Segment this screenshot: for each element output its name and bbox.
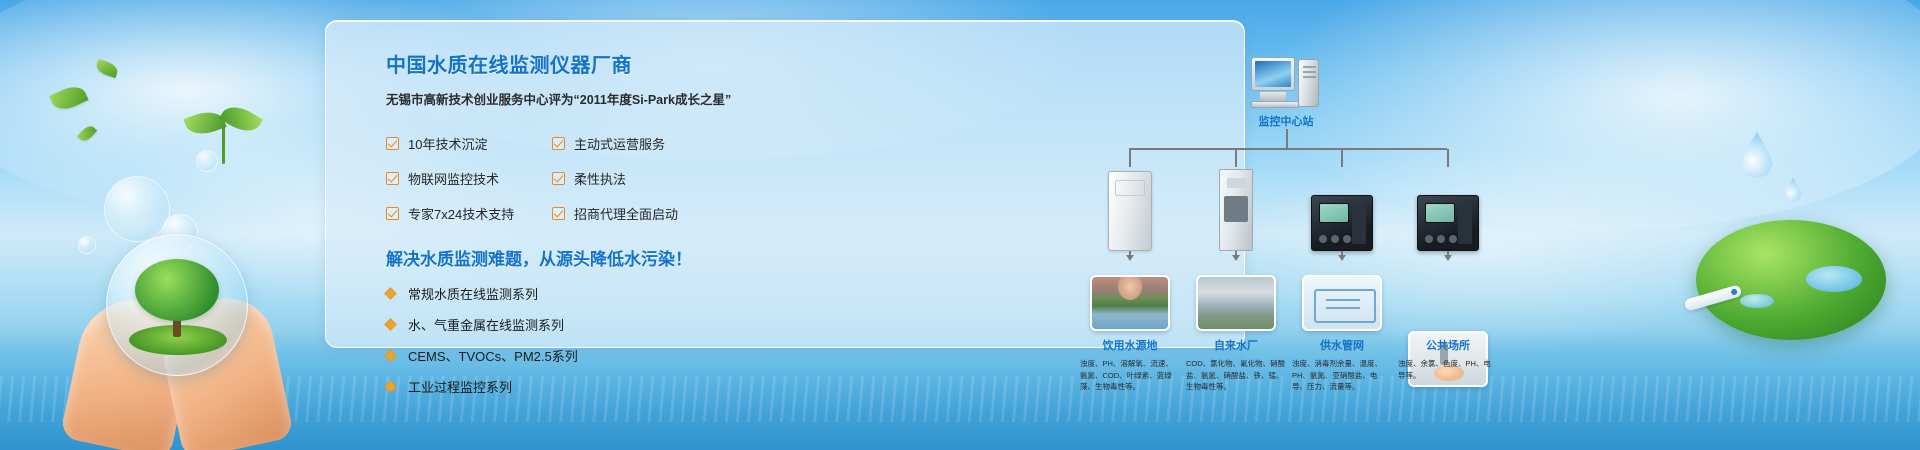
- device-controller-display[interactable]: [1415, 167, 1481, 251]
- checkbox-checked-icon: [386, 207, 399, 220]
- checkbox-checked-icon: [552, 137, 565, 150]
- sprout-icon: [186, 108, 262, 166]
- feature-item[interactable]: 主动式运营服务: [552, 130, 718, 156]
- leaf-icon: [95, 59, 120, 78]
- feature-item[interactable]: 物联网监控技术: [386, 165, 552, 191]
- green-earth-with-lake: [1696, 210, 1886, 350]
- product-line-label: 水、气重金属在线监测系列: [408, 315, 564, 334]
- checkbox-checked-icon: [386, 172, 399, 185]
- device-cabinet-analyzer[interactable]: [1097, 167, 1163, 251]
- scenario-image-pipe-network[interactable]: [1302, 275, 1382, 331]
- scenario-title: 供水管网: [1290, 337, 1394, 353]
- hero-card: 中国水质在线监测仪器厂商 无锡市高新技术创业服务中心评为“2011年度Si-Pa…: [325, 20, 1245, 348]
- diamond-bullet-icon: [384, 349, 397, 362]
- system-topology-diagram: 监控中心站 饮用水源地 浊度、PH、溶解氧、流速、氨氮、COD、叶绿素、蓝绿藻、…: [1071, 43, 1541, 363]
- scenario-title: 饮用水源地: [1078, 337, 1182, 353]
- scenario-desc: 浊度、消毒剂余量、温度、PH、氨氮、亚硝酸盐、电导、压力、流量等。: [1290, 358, 1394, 393]
- feature-label: 主动式运营服务: [574, 134, 665, 153]
- monitoring-center-label: 监控中心站: [1221, 113, 1351, 129]
- list-item[interactable]: 水、气重金属在线监测系列: [386, 315, 731, 334]
- scenario-caption: 公共场所 浊度、余氯、色度、PH、电导等。: [1396, 337, 1500, 381]
- product-line-list: 常规水质在线监测系列 水、气重金属在线监测系列 CEMS、TVOCs、PM2.5…: [386, 284, 731, 396]
- scenario-caption: 饮用水源地 浊度、PH、溶解氧、流速、氨氮、COD、叶绿素、蓝绿藻、生物毒性等。: [1078, 337, 1182, 393]
- diamond-bullet-icon: [384, 318, 397, 331]
- feature-item[interactable]: 柔性执法: [552, 165, 718, 191]
- water-droplet-small-icon: [1784, 178, 1802, 202]
- scenario-title: 公共场所: [1396, 337, 1500, 353]
- feature-label: 招商代理全面启动: [574, 204, 678, 223]
- hands-holding-tree-globe: [72, 228, 282, 450]
- connector-branch: [1235, 149, 1237, 167]
- hero-text-column: 中国水质在线监测仪器厂商 无锡市高新技术创业服务中心评为“2011年度Si-Pa…: [386, 49, 731, 408]
- scenario-desc: COD、氯化物、氟化物、硝酸盐、氨氮、硝酸盐、铁、锰、生物毒性等。: [1184, 358, 1288, 393]
- page-title: 中国水质在线监测仪器厂商: [386, 49, 731, 78]
- water-droplet-icon: [1740, 132, 1774, 178]
- scenario-image-river[interactable]: [1090, 275, 1170, 331]
- product-line-label: 常规水质在线监测系列: [408, 284, 538, 303]
- checkbox-checked-icon: [552, 172, 565, 185]
- list-item[interactable]: 常规水质在线监测系列: [386, 284, 731, 303]
- connector-trunk: [1286, 129, 1288, 149]
- connector-tail: [1129, 251, 1131, 257]
- scenario-caption: 自来水厂 COD、氯化物、氟化物、硝酸盐、氨氮、硝酸盐、铁、锰、生物毒性等。: [1184, 337, 1288, 393]
- checkbox-checked-icon: [552, 207, 565, 220]
- scenario-title: 自来水厂: [1184, 337, 1288, 353]
- diamond-bullet-icon: [384, 380, 397, 393]
- connector-branch: [1129, 149, 1131, 167]
- feature-label: 专家7x24技术支持: [408, 204, 514, 223]
- leaf-icon: [49, 82, 88, 114]
- product-line-label: CEMS、TVOCs、PM2.5系列: [408, 346, 578, 365]
- connector-bus: [1129, 148, 1447, 150]
- connector-branch: [1447, 149, 1449, 167]
- page-subtitle: 无锡市高新技术创业服务中心评为“2011年度Si-Park成长之星”: [386, 89, 731, 108]
- section-title-solution: 解决水质监测难题，从源头降低水污染！: [386, 245, 731, 270]
- device-controller-display[interactable]: [1309, 167, 1375, 251]
- list-item[interactable]: 工业过程监控系列: [386, 377, 731, 396]
- feature-item[interactable]: 招商代理全面启动: [552, 200, 718, 226]
- device-rack-analyzer[interactable]: [1203, 167, 1269, 251]
- product-line-label: 工业过程监控系列: [408, 377, 512, 396]
- scenario-desc: 浊度、PH、溶解氧、流速、氨氮、COD、叶绿素、蓝绿藻、生物毒性等。: [1078, 358, 1182, 393]
- feature-label: 物联网监控技术: [408, 169, 499, 188]
- feature-label: 10年技术沉淀: [408, 134, 487, 153]
- connector-tail: [1341, 251, 1343, 257]
- feature-label: 柔性执法: [574, 169, 626, 188]
- connector-tail: [1447, 251, 1449, 257]
- list-item[interactable]: CEMS、TVOCs、PM2.5系列: [386, 346, 731, 365]
- leaf-icon: [77, 123, 97, 144]
- checkbox-checked-icon: [386, 137, 399, 150]
- scenario-image-water-plant[interactable]: [1196, 275, 1276, 331]
- diamond-bullet-icon: [384, 287, 397, 300]
- connector-branch: [1341, 149, 1343, 167]
- feature-item[interactable]: 专家7x24技术支持: [386, 200, 552, 226]
- feature-item[interactable]: 10年技术沉淀: [386, 130, 552, 156]
- connector-tail: [1235, 251, 1237, 257]
- scenario-desc: 浊度、余氯、色度、PH、电导等。: [1396, 358, 1500, 381]
- scenario-caption: 供水管网 浊度、消毒剂余量、温度、PH、氨氮、亚硝酸盐、电导、压力、流量等。: [1290, 337, 1394, 393]
- desktop-computer-icon: [1251, 57, 1321, 109]
- feature-checklist: 10年技术沉淀 主动式运营服务 物联网监控技术 柔性执法 专家7x24技术支持 …: [386, 130, 718, 235]
